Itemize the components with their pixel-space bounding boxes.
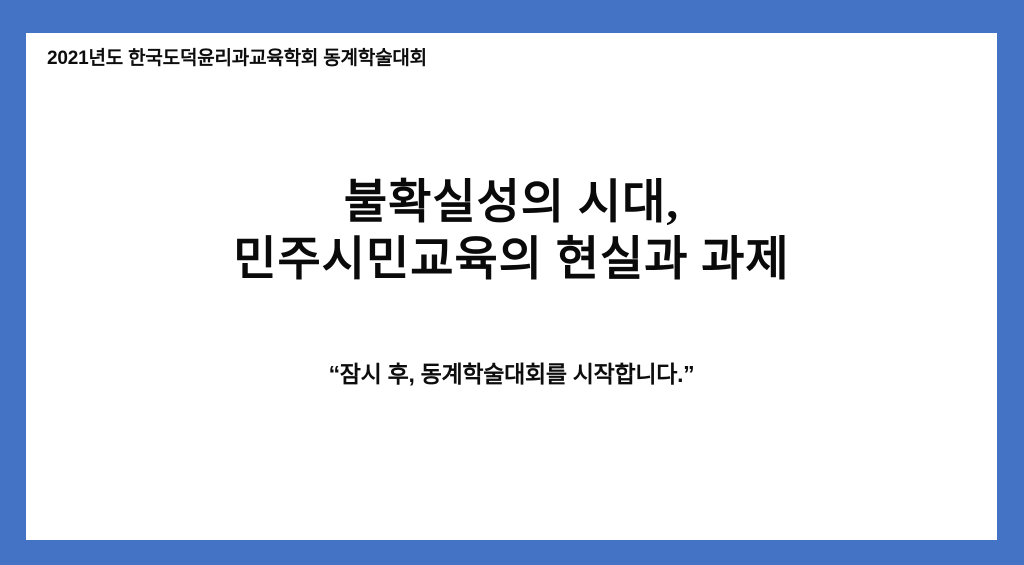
conference-header-text: 2021년도 한국도덕윤리과교육학회 동계학술대회 [47, 48, 427, 71]
slide-subtitle-notice: “잠시 후, 동계학술대회를 시작합니다.” [26, 360, 997, 390]
slide-title-line-2: 민주시민교육의 현실과 과제 [26, 232, 997, 289]
slide-title-line-1: 불확실성의 시대, [26, 175, 997, 232]
slide-content-panel: 2021년도 한국도덕윤리과교육학회 동계학술대회 불확실성의 시대, 민주시민… [26, 33, 997, 540]
slide-title-block: 불확실성의 시대, 민주시민교육의 현실과 과제 [26, 175, 997, 290]
slide-root: 2021년도 한국도덕윤리과교육학회 동계학술대회 불확실성의 시대, 민주시민… [0, 0, 1024, 565]
